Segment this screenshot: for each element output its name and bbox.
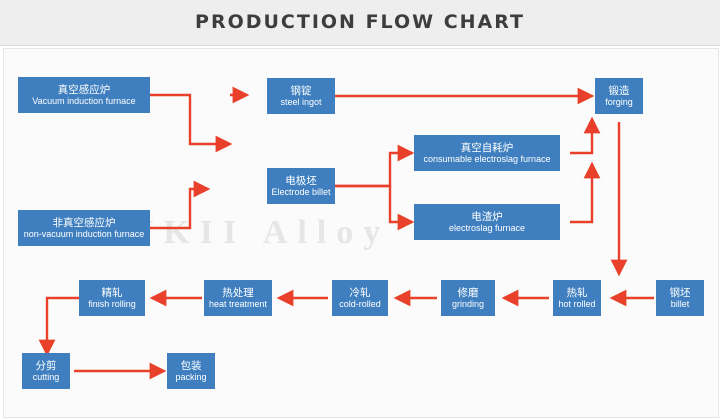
- node-label-cn: 热处理: [222, 287, 254, 299]
- watermark-text: TANKII Alloy: [64, 214, 664, 252]
- node-label-cn: 修磨: [458, 287, 479, 299]
- flow-chart-page: PRODUCTION FLOW CHART TANKII Alloy: [0, 0, 720, 419]
- node-forging[interactable]: 锻造 forging: [595, 78, 643, 114]
- node-label-en: cutting: [33, 372, 60, 383]
- node-label-cn: 冷轧: [350, 287, 371, 299]
- node-label-en: hot rolled: [558, 299, 595, 310]
- node-label-en: electroslag furnace: [449, 223, 525, 234]
- node-steel-ingot[interactable]: 钢锭 steel ingot: [267, 78, 335, 114]
- node-electrode-billet[interactable]: 电极坯 Electrode billet: [267, 168, 335, 204]
- node-electroslag-furnace[interactable]: 电渣炉 electroslag furnace: [414, 204, 560, 240]
- node-label-en: consumable electroslag furnace: [423, 154, 550, 165]
- node-label-cn: 非真空感应炉: [53, 217, 116, 229]
- node-label-en: non-vacuum induction furnace: [24, 229, 145, 240]
- node-label-cn: 钢坯: [670, 287, 691, 299]
- node-label-cn: 锻造: [609, 85, 630, 97]
- node-consumable-electroslag-furnace[interactable]: 真空自耗炉 consumable electroslag furnace: [414, 135, 560, 171]
- node-label-cn: 真空感应炉: [58, 84, 111, 96]
- node-cold-rolled[interactable]: 冷轧 cold-rolled: [332, 280, 388, 316]
- diagram-canvas: TANKII Alloy: [3, 48, 719, 418]
- node-label-en: billet: [671, 299, 690, 310]
- node-label-en: Vacuum induction furnace: [32, 96, 135, 107]
- node-finish-rolling[interactable]: 精轧 finish rolling: [79, 280, 145, 316]
- node-heat-treatment[interactable]: 热处理 heat treatment: [204, 280, 272, 316]
- node-hot-rolled[interactable]: 热轧 hot rolled: [553, 280, 601, 316]
- node-label-cn: 精轧: [102, 287, 123, 299]
- node-packing[interactable]: 包装 packing: [167, 353, 215, 389]
- node-label-en: heat treatment: [209, 299, 267, 310]
- node-label-cn: 热轧: [567, 287, 588, 299]
- node-non-vacuum-induction-furnace[interactable]: 非真空感应炉 non-vacuum induction furnace: [18, 210, 150, 246]
- node-billet[interactable]: 钢坯 billet: [656, 280, 704, 316]
- node-label-en: packing: [175, 372, 206, 383]
- node-cutting[interactable]: 分剪 cutting: [22, 353, 70, 389]
- node-vacuum-induction-furnace[interactable]: 真空感应炉 Vacuum induction furnace: [18, 77, 150, 113]
- node-label-cn: 钢锭: [291, 85, 312, 97]
- node-label-cn: 真空自耗炉: [461, 142, 514, 154]
- header-bar: PRODUCTION FLOW CHART: [0, 0, 720, 46]
- node-label-en: Electrode billet: [271, 187, 330, 198]
- node-label-cn: 电极坯: [285, 175, 317, 187]
- node-grinding[interactable]: 修磨 grinding: [441, 280, 495, 316]
- node-label-cn: 分剪: [36, 360, 57, 372]
- node-label-cn: 电渣炉: [471, 211, 503, 223]
- node-label-en: steel ingot: [280, 97, 321, 108]
- page-title: PRODUCTION FLOW CHART: [0, 0, 720, 45]
- node-label-en: finish rolling: [88, 299, 136, 310]
- node-label-en: grinding: [452, 299, 484, 310]
- node-label-en: forging: [605, 97, 633, 108]
- node-label-en: cold-rolled: [339, 299, 381, 310]
- node-label-cn: 包装: [181, 360, 202, 372]
